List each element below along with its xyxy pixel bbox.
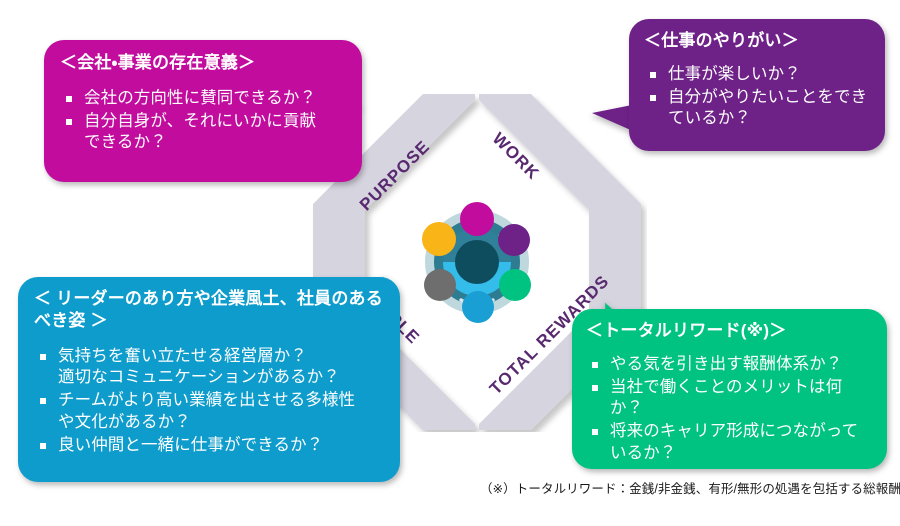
callout-people-title: ＜ リーダーのあり方や企業風土、社員のあるべき姿 ＞ — [34, 288, 388, 332]
list-item-continuation: できるか？ — [60, 132, 348, 154]
dot-purple — [498, 224, 530, 256]
footnote-text: （※）トータルリワード：金銭/非金銭、有形/無形の処遇を包括する総報酬 — [480, 478, 900, 497]
dot-gray — [424, 269, 456, 301]
callout-work-title: ＜仕事のやりがい＞ — [644, 30, 873, 52]
list-item: 気持ちを奮い立たせる経営層か？ — [34, 346, 388, 368]
list-item: 仕事が楽しいか？ — [644, 64, 873, 86]
callout-total-rewards-title: ＜トータルリワード(※)＞ — [586, 320, 875, 342]
callout-total-rewards[interactable]: ＜トータルリワード(※)＞ やる気を引き出す報酬体系か？ 当社で働くことのメリッ… — [572, 309, 887, 469]
callout-work-list: 仕事が楽しいか？ 自分がやりたいことをでき ているか？ — [644, 64, 873, 130]
list-item: やる気を引き出す報酬体系か？ — [586, 354, 875, 376]
list-item-continuation: いるか？ — [586, 443, 875, 465]
diagram-canvas: PURPOSE WORK PEOPLE TOTAL REWARDS — [0, 0, 900, 526]
list-item: 会社の方向性に賛同できるか？ — [60, 88, 348, 110]
callout-people[interactable]: ＜ リーダーのあり方や企業風土、社員のあるべき姿 ＞ 気持ちを奮い立たせる経営層… — [18, 277, 400, 482]
core-circle — [455, 240, 499, 284]
list-item: 当社で働くことのメリットは何か？ — [586, 377, 875, 421]
list-item: 将来のキャリア形成につながって — [586, 421, 875, 443]
callout-work[interactable]: ＜仕事のやりがい＞ 仕事が楽しいか？ 自分がやりたいことをでき ているか？ — [629, 19, 885, 151]
list-item: 自分自身が、それにいかに貢献 — [60, 111, 348, 133]
list-item-continuation: や文化があるか？ — [34, 412, 388, 434]
dot-blue — [462, 291, 494, 323]
callout-people-list: 気持ちを奮い立たせる経営層か？ 適切なコミュニケーションがあるか？ チームがより… — [34, 346, 388, 457]
list-item: チームがより高い業績を出させる多様性 — [34, 390, 388, 412]
list-item-continuation: 適切なコミュニケーションがあるか？ — [34, 367, 388, 389]
list-item: 良い仲間と一緒に仕事ができるか？ — [34, 435, 388, 457]
callout-purpose[interactable]: ＜会社・事業の存在意義＞ 会社の方向性に賛同できるか？ 自分自身が、それにいかに… — [44, 40, 362, 182]
callout-purpose-list: 会社の方向性に賛同できるか？ 自分自身が、それにいかに貢献 できるか？ — [60, 88, 348, 154]
dot-magenta — [460, 202, 494, 236]
dot-green — [499, 269, 531, 301]
list-item: 自分がやりたいことをでき — [644, 87, 873, 109]
dot-amber — [422, 222, 456, 256]
callout-total-rewards-list: やる気を引き出す報酬体系か？ 当社で働くことのメリットは何か？ 将来のキャリア形… — [586, 354, 875, 465]
callout-purpose-title: ＜会社・事業の存在意義＞ — [60, 52, 348, 74]
center-circle-graphic — [407, 192, 547, 332]
list-item-continuation: ているか？ — [644, 108, 873, 130]
